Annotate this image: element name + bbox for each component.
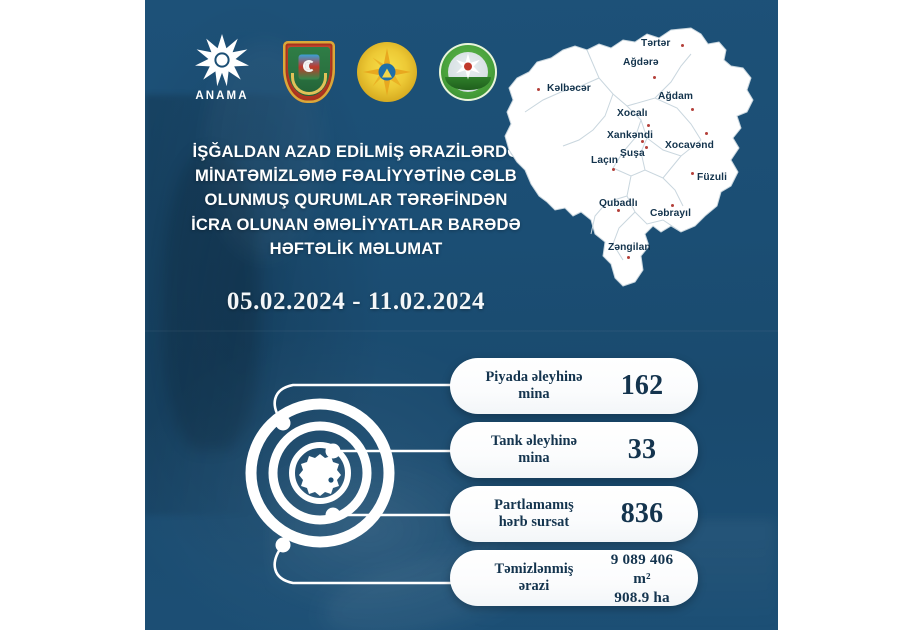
- ministry-of-defence-emblem: [283, 41, 335, 103]
- stat-pill-cleared-area[interactable]: Təmizlənmiş ərazi 9 089 406 m² 908.9 ha: [450, 550, 698, 606]
- stat-label-line-2: hərb sursat: [499, 514, 570, 530]
- map-city-label: Xocalı: [617, 108, 648, 119]
- stat-label-line-2: mina: [518, 450, 549, 466]
- stat-label: Piyada əleyhinə mina: [464, 369, 604, 403]
- map-city-label: Kəlbəcər: [547, 83, 591, 94]
- stat-value-line-1: 9 089 406 m²: [611, 551, 674, 587]
- dsx-star-icon: [455, 53, 481, 84]
- title-line-4: İCRA OLUNAN ƏMƏLİYYATLAR BARƏDƏ: [163, 213, 549, 237]
- title-line-5: HƏFTƏLİK MƏLUMAT: [163, 237, 549, 261]
- background-texture-seam: [145, 330, 778, 332]
- stat-value-line-2: 908.9 ha: [614, 589, 670, 606]
- stat-label: Partlamamış hərb sursat: [464, 497, 604, 531]
- crest-wreath-icon: [291, 73, 327, 95]
- stat-value: 836: [604, 498, 680, 530]
- state-border-service-emblem: [439, 43, 497, 101]
- mine-target-graphic: [245, 398, 395, 548]
- map-city-label: Xankəndi: [607, 130, 653, 141]
- stat-pill-anti-tank-mines[interactable]: Tank əleyhinə mina 33: [450, 422, 698, 478]
- stat-label-line-2: mina: [518, 386, 549, 402]
- anama-wordmark: ANAMA: [195, 90, 248, 102]
- stat-label: Təmizlənmiş ərazi: [464, 561, 604, 595]
- title-line-3: OLUNMUŞ QURUMLAR TƏRƏFİNDƏN: [163, 188, 549, 212]
- anama-star-icon: [194, 33, 250, 89]
- poster-canvas: ANAMA: [145, 0, 778, 630]
- map-city-label: Zəngilan: [608, 242, 651, 253]
- date-range: 05.02.2024 - 11.02.2024: [163, 288, 549, 316]
- map-city-label: Şuşa: [620, 148, 645, 159]
- stat-value: 162: [604, 370, 680, 402]
- karabakh-region-map: TərtərAğdərəKəlbəcərAğdamXocalıXankəndiX…: [495, 20, 773, 295]
- landmine-icon: [299, 454, 341, 496]
- infographic-poster: ANAMA: [0, 0, 923, 630]
- title-line-1: İŞĞALDAN AZAD EDİLMİŞ ƏRAZİLƏRDƏ: [163, 140, 549, 164]
- stat-label-line-1: Piyada əleyhinə: [485, 369, 582, 385]
- map-city-label: Laçın: [591, 155, 618, 166]
- map-city-label: Ağdam: [658, 91, 693, 102]
- crest-crescent-icon: [303, 60, 315, 72]
- map-city-label: Cəbrayıl: [650, 208, 691, 219]
- stat-value: 33: [604, 434, 680, 466]
- logo-row: ANAMA: [183, 33, 497, 111]
- map-city-label: Qubadlı: [599, 198, 638, 209]
- stat-pill-unexploded-ordnance[interactable]: Partlamamış hərb sursat 836: [450, 486, 698, 542]
- stat-label-line-1: Tank əleyhinə: [491, 433, 577, 449]
- stat-label: Tank əleyhinə mina: [464, 433, 604, 467]
- title-line-2: MİNATƏMİZLƏMƏ FƏALİYYƏTİNƏ CƏLB: [163, 164, 549, 188]
- map-city-label: Xocavənd: [665, 140, 714, 151]
- poster-title: İŞĞALDAN AZAD EDİLMİŞ ƏRAZİLƏRDƏ MİNATƏM…: [163, 140, 549, 261]
- stat-label-line-1: Partlamamış: [494, 497, 574, 513]
- map-city-label: Ağdərə: [623, 57, 659, 68]
- stat-label-line-2: ərazi: [519, 578, 550, 594]
- ministry-of-emergency-situations-emblem: [357, 42, 417, 102]
- map-city-label: Füzuli: [697, 172, 727, 183]
- stat-value: 9 089 406 m² 908.9 ha: [604, 550, 680, 607]
- fhn-triangle-icon: [382, 69, 392, 78]
- stat-label-line-1: Təmizlənmiş: [495, 561, 574, 577]
- anama-logo: ANAMA: [183, 33, 261, 111]
- stat-pill-anti-personnel-mines[interactable]: Piyada əleyhinə mina 162: [450, 358, 698, 414]
- map-city-label: Tərtər: [641, 38, 670, 49]
